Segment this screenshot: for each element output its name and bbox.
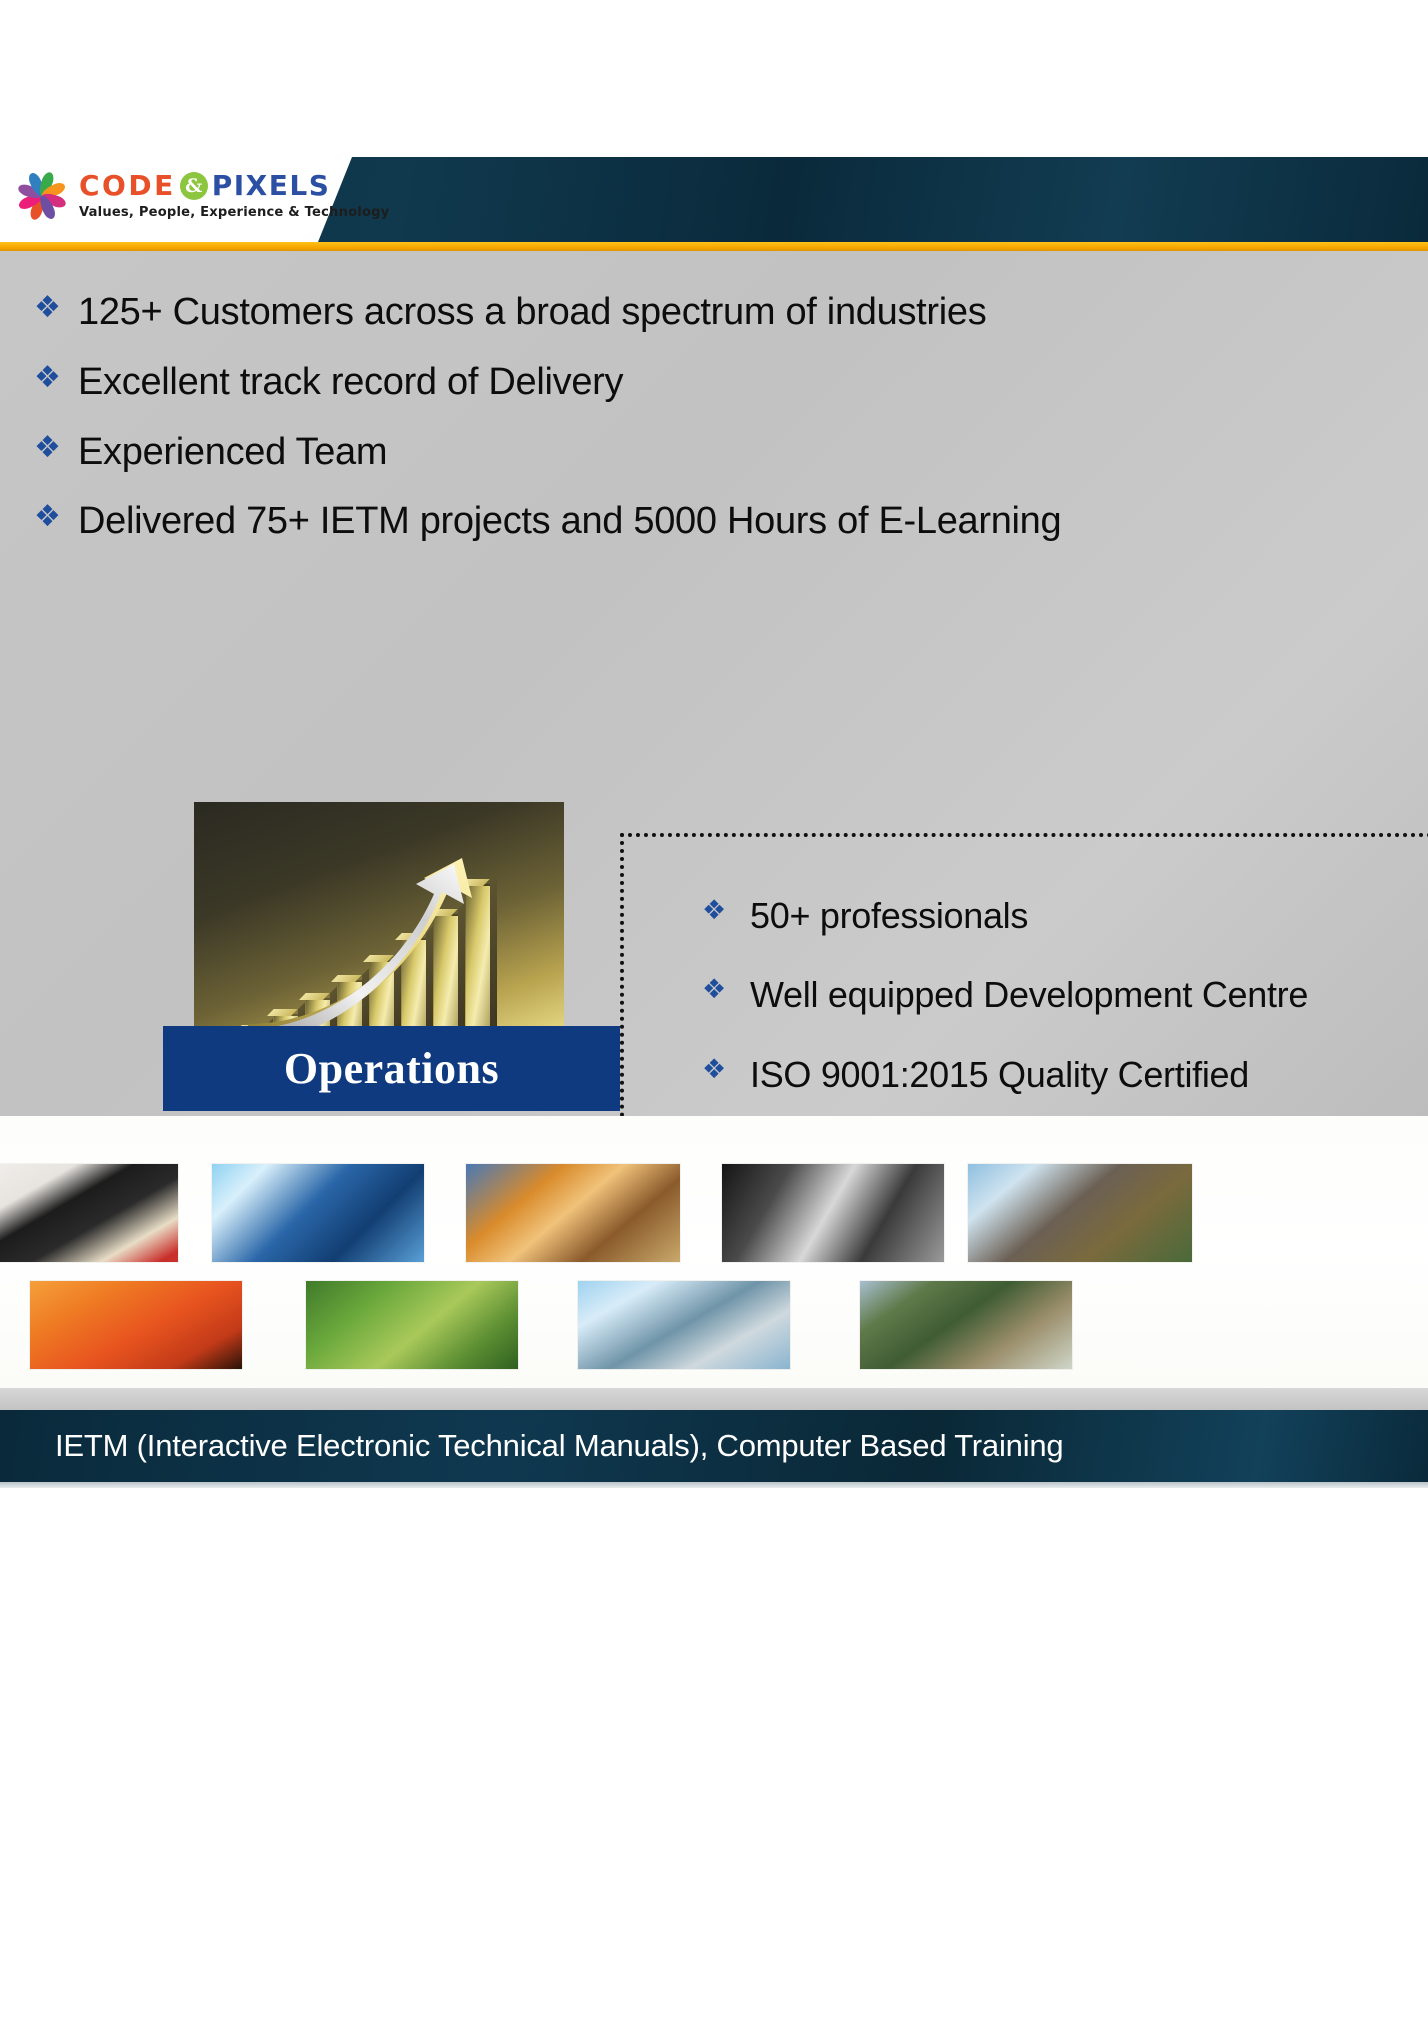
diamond-bullet-icon: ❖ (34, 290, 78, 325)
bullet-text: Experienced Team (78, 430, 387, 475)
diamond-bullet-icon: ❖ (702, 895, 750, 926)
operations-banner: Operations (163, 1026, 620, 1111)
diamond-bullet-icon: ❖ (702, 974, 750, 1005)
strip-underline (0, 1388, 1428, 1410)
footer-edge (0, 1482, 1428, 1488)
bullet-text: Delivered 75+ IETM projects and 5000 Hou… (78, 499, 1061, 544)
bullet-text: 125+ Customers across a broad spectrum o… (78, 290, 986, 335)
strip-photo (578, 1281, 790, 1369)
list-item: ❖ Delivered 75+ IETM projects and 5000 H… (34, 499, 1414, 544)
slide: CODE & PIXELS Values, People, Experience… (0, 157, 1428, 1410)
bullet-text: ISO 9001:2015 Quality Certified (750, 1054, 1249, 1095)
footer-bar: IETM (Interactive Electronic Technical M… (0, 1410, 1428, 1482)
growth-arrow-icon (228, 858, 480, 1048)
strip-photo (212, 1164, 424, 1262)
slide-body: ❖ 125+ Customers across a broad spectrum… (0, 251, 1428, 1116)
list-item: ❖ 125+ Customers across a broad spectrum… (34, 290, 1414, 335)
strip-photo (968, 1164, 1192, 1262)
info-bullet-list: ❖ 50+ professionals ❖ Well equipped Deve… (702, 895, 1308, 1133)
footer-text: IETM (Interactive Electronic Technical M… (0, 1428, 1063, 1464)
strip-photo (722, 1164, 944, 1262)
strip-photo (306, 1281, 518, 1369)
diamond-bullet-icon: ❖ (34, 430, 78, 465)
brand-code-text: CODE (79, 172, 176, 200)
brand-pixels-text: PIXELS (212, 172, 331, 200)
slide-header: CODE & PIXELS Values, People, Experience… (0, 157, 1428, 242)
strip-photo (0, 1164, 178, 1262)
brand-ampersand-badge: & (180, 172, 208, 200)
list-item: ❖ Excellent track record of Delivery (34, 360, 1414, 405)
list-item: ❖ Well equipped Development Centre (702, 974, 1308, 1015)
diamond-bullet-icon: ❖ (34, 360, 78, 395)
gold-divider (0, 242, 1428, 251)
list-item: ❖ 50+ professionals (702, 895, 1308, 936)
list-item: ❖ ISO 9001:2015 Quality Certified (702, 1054, 1308, 1095)
diamond-bullet-icon: ❖ (702, 1054, 750, 1085)
pinwheel-icon (14, 168, 70, 224)
diamond-bullet-icon: ❖ (34, 499, 78, 534)
strip-photo (860, 1281, 1072, 1369)
wordmark: CODE & PIXELS Values, People, Experience… (79, 172, 399, 220)
bullet-text: 50+ professionals (750, 895, 1028, 936)
brand-tagline: Values, People, Experience & Technology (79, 204, 389, 220)
strip-photo (466, 1164, 680, 1262)
brand-logo[interactable]: CODE & PIXELS Values, People, Experience… (14, 168, 399, 224)
main-bullet-list: ❖ 125+ Customers across a broad spectrum… (34, 290, 1414, 569)
photo-strip (0, 1116, 1428, 1388)
list-item: ❖ Experienced Team (34, 430, 1414, 475)
bullet-text: Excellent track record of Delivery (78, 360, 623, 405)
operations-label: Operations (284, 1043, 499, 1094)
strip-photo (30, 1281, 242, 1369)
bullet-text: Well equipped Development Centre (750, 974, 1308, 1015)
